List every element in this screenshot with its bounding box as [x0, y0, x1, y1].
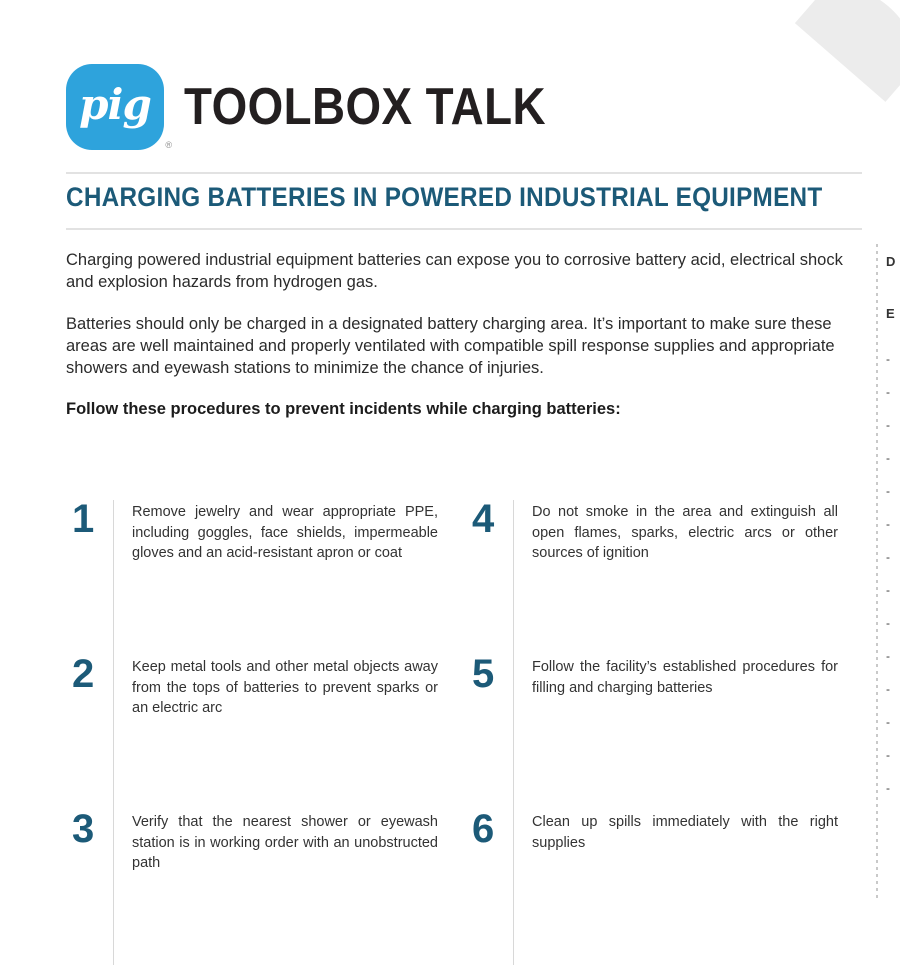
list-item: -: [886, 352, 890, 385]
step-divider: [113, 655, 114, 810]
logo-wordmark: pig: [79, 84, 151, 126]
list-item: -: [886, 715, 890, 748]
step-number: 3: [66, 810, 113, 848]
step-number: 2: [66, 655, 113, 693]
step-text: Follow the facility’s established proce­…: [532, 655, 866, 698]
list-item: -: [886, 550, 890, 583]
decorative-corner-graphic: [795, 0, 900, 102]
section-title: CHARGING BATTERIES IN POWERED INDUSTRIAL…: [66, 182, 822, 213]
step-item: 4 Do not smoke in the area and extinguis…: [466, 500, 866, 655]
step-divider: [113, 500, 114, 655]
intro-paragraph-2: Batteries should only be charged in a de…: [66, 314, 866, 380]
list-item: -: [886, 682, 890, 715]
step-number: 4: [466, 500, 513, 538]
pig-logo: pig ®: [66, 64, 164, 150]
step-text: Verify that the nearest shower or eyewas…: [132, 810, 466, 874]
step-item: 2 Keep metal tools and other metal objec…: [66, 655, 466, 810]
step-divider: [113, 810, 114, 965]
side-panel-list: - - - - - - - - - - - - - -: [886, 352, 890, 814]
clipped-side-panel: D E - - - - - - - - - - - - - -: [886, 244, 900, 900]
list-item: -: [886, 781, 890, 814]
list-item: -: [886, 418, 890, 451]
side-panel-heading-1: D: [886, 254, 895, 269]
step-text: Clean up spills immediately with the rig…: [532, 810, 866, 853]
procedures-lead-in: Follow these procedures to prevent incid…: [66, 400, 866, 419]
step-item: 6 Clean up spills immediately with the r…: [466, 810, 866, 965]
intro-paragraph-1: Charging powered industrial equipment ba…: [66, 250, 866, 294]
article-body: Charging powered industrial equipment ba…: [66, 250, 866, 419]
step-divider: [513, 500, 514, 655]
list-item: -: [886, 649, 890, 682]
sidebar-dotted-divider: [876, 244, 878, 900]
step-text: Do not smoke in the area and extinguish …: [532, 500, 866, 564]
step-text: Keep metal tools and other metal objects…: [132, 655, 466, 719]
step-item: 3 Verify that the nearest shower or eyew…: [66, 810, 466, 965]
registered-trademark-icon: ®: [165, 140, 172, 150]
list-item: -: [886, 451, 890, 484]
title-rule-top: [66, 172, 862, 174]
list-item: -: [886, 583, 890, 616]
section-header[interactable]: CHARGING BATTERIES IN POWERED INDUSTRIAL…: [66, 182, 866, 213]
list-item: -: [886, 748, 890, 781]
procedure-steps-grid: 1 Remove jewelry and wear appropriate PP…: [66, 500, 866, 965]
page-title: TOOLBOX TALK: [184, 77, 546, 137]
step-number: 5: [466, 655, 513, 693]
step-number: 1: [66, 500, 113, 538]
step-divider: [513, 655, 514, 810]
step-text: Remove jewelry and wear appropriate PPE,…: [132, 500, 466, 564]
step-divider: [513, 810, 514, 965]
list-item: -: [886, 616, 890, 649]
list-item: -: [886, 484, 890, 517]
masthead: pig ® TOOLBOX TALK: [66, 64, 595, 150]
list-item: -: [886, 517, 890, 550]
step-item: 5 Follow the facility’s established proc…: [466, 655, 866, 810]
title-rule-bottom: [66, 228, 862, 230]
side-panel-heading-2: E: [886, 306, 895, 321]
step-item: 1 Remove jewelry and wear appropriate PP…: [66, 500, 466, 655]
list-item: -: [886, 385, 890, 418]
step-number: 6: [466, 810, 513, 848]
